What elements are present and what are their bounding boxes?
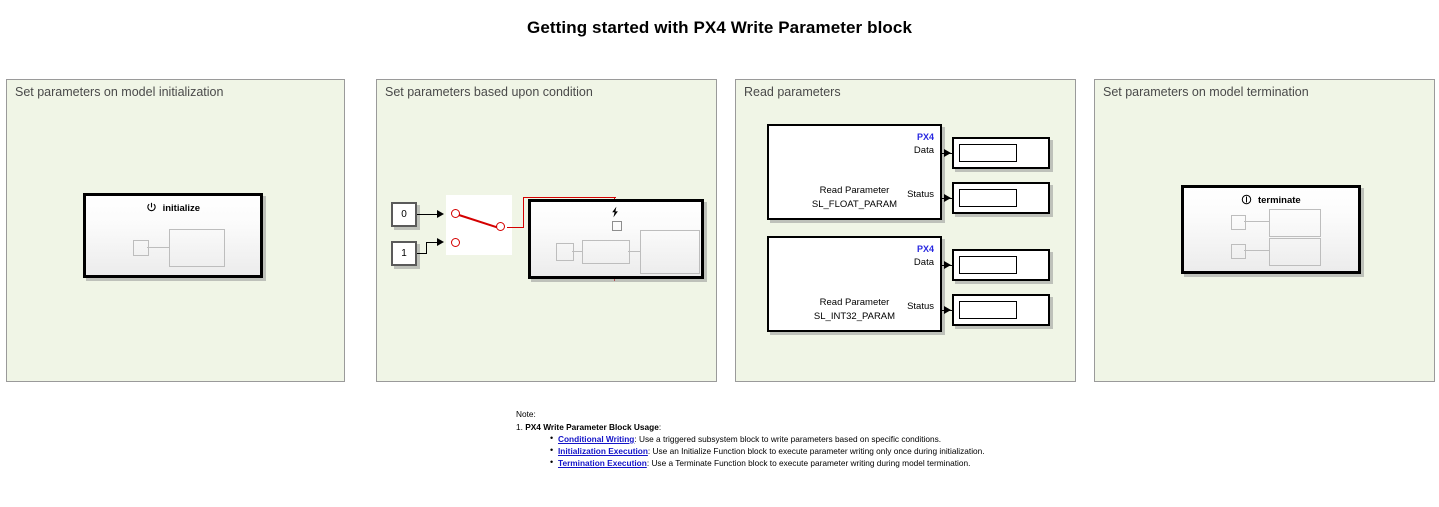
initialize-label-text: initialize: [163, 203, 200, 214]
constant-block-1[interactable]: 1: [391, 241, 417, 266]
arrow-const1: [437, 238, 444, 246]
ghost-connector-1: [572, 251, 582, 252]
note-item-title: PX4 Write Parameter Block Usage: [525, 422, 659, 432]
ghost-port-square: [556, 243, 574, 261]
switch-output-node: [496, 222, 505, 231]
wire-const0-to-switch: [417, 214, 438, 215]
wire-const1-rise: [426, 242, 427, 254]
ghost-port-square: [133, 240, 149, 256]
display-value-float-status: [959, 189, 1017, 207]
link-initialization-execution[interactable]: Initialization Execution: [558, 446, 648, 456]
panel-set-parameters-on-model-termination[interactable]: Set parameters on model termination term…: [1094, 79, 1435, 382]
ghost-port-square-top: [1231, 215, 1246, 230]
panel-set-parameters-on-model-initialization[interactable]: Set parameters on model initialization i…: [6, 79, 345, 382]
trigger-port-icon-wrap: [531, 206, 701, 221]
wire-switch-out: [507, 227, 524, 228]
terminate-block-label: terminate: [1184, 194, 1358, 208]
trigger-lightning-icon: [610, 206, 620, 221]
trigger-port-square: [612, 221, 622, 231]
display-block-int32-data[interactable]: [952, 249, 1050, 281]
bullet-text: : Use a Terminate Function block to exec…: [647, 458, 971, 468]
read-parameter-block-float[interactable]: PX4 Data Read Parameter Status SL_FLOAT_…: [767, 124, 942, 220]
arrow-int32-status: [944, 306, 951, 314]
note-bullet-list: Conditional Writing: Use a triggered sub…: [550, 434, 1076, 469]
note-item-number: 1.: [516, 422, 523, 432]
constant-block-0[interactable]: 0: [391, 202, 417, 227]
terminate-label-text: terminate: [1258, 195, 1301, 206]
ghost-port-square-bottom: [1231, 244, 1246, 259]
triggered-subsystem-block[interactable]: [528, 199, 704, 279]
arrow-const0: [437, 210, 444, 218]
bullet-text: : Use an Initialize Function block to ex…: [648, 446, 985, 456]
wire-trigger-rise: [523, 197, 524, 228]
panel-title: Set parameters based upon condition: [385, 85, 593, 99]
ghost-mid-rect: [582, 240, 630, 264]
display-value-int32-data: [959, 256, 1017, 274]
panel-read-parameters[interactable]: Read parameters PX4 Data Read Parameter …: [735, 79, 1076, 382]
display-block-float-status[interactable]: [952, 182, 1050, 214]
px4-vendor-label: PX4: [917, 244, 934, 254]
display-block-int32-status[interactable]: [952, 294, 1050, 326]
ghost-connector-bottom: [1244, 250, 1269, 251]
ghost-body-rect-top: [1269, 209, 1321, 237]
arrow-int32-data: [944, 261, 951, 269]
terminate-icon: [1241, 194, 1252, 208]
switch-input-node-1: [451, 238, 460, 247]
constant-0-value: 0: [401, 209, 407, 220]
panel-title: Set parameters on model initialization: [15, 85, 223, 99]
note-item-title-suffix: :: [659, 422, 661, 432]
switch-blade: [459, 214, 498, 228]
display-block-float-data[interactable]: [952, 137, 1050, 169]
ghost-connector: [147, 247, 169, 248]
constant-1-value: 1: [401, 248, 407, 259]
list-item: Initialization Execution: Use an Initial…: [550, 446, 1076, 457]
panel-title: Set parameters on model termination: [1103, 85, 1309, 99]
ghost-body-rect-bottom: [1269, 238, 1321, 266]
initialize-function-block[interactable]: initialize: [83, 193, 263, 278]
terminate-function-block[interactable]: terminate: [1181, 185, 1361, 274]
ghost-connector-top: [1244, 221, 1269, 222]
port-label-data: Data: [914, 145, 934, 156]
panel-title: Read parameters: [744, 85, 841, 99]
power-icon: [146, 202, 157, 216]
ghost-body-rect: [640, 230, 700, 274]
ghost-body-rect: [169, 229, 225, 267]
ghost-connector-2: [628, 251, 640, 252]
display-value-float-data: [959, 144, 1017, 162]
link-termination-execution[interactable]: Termination Execution: [558, 458, 647, 468]
port-label-data: Data: [914, 257, 934, 268]
manual-switch-block[interactable]: [446, 195, 512, 255]
list-item: Termination Execution: Use a Terminate F…: [550, 458, 1076, 469]
display-value-int32-status: [959, 301, 1017, 319]
note-item-1: 1. PX4 Write Parameter Block Usage:: [516, 422, 1076, 433]
note-heading: Note:: [516, 409, 1076, 420]
parameter-name-float: SL_FLOAT_PARAM: [769, 199, 940, 210]
page-title: Getting started with PX4 Write Parameter…: [0, 18, 1439, 38]
parameter-name-int32: SL_INT32_PARAM: [769, 311, 940, 322]
px4-vendor-label: PX4: [917, 132, 934, 142]
arrow-float-status: [944, 194, 951, 202]
initialize-block-label: initialize: [86, 202, 260, 216]
arrow-float-data: [944, 149, 951, 157]
bullet-text: : Use a triggered subsystem block to wri…: [634, 434, 941, 444]
read-parameter-block-int32[interactable]: PX4 Data Read Parameter Status SL_INT32_…: [767, 236, 942, 332]
link-conditional-writing[interactable]: Conditional Writing: [558, 434, 634, 444]
panel-set-parameters-based-upon-condition[interactable]: Set parameters based upon condition 0 1: [376, 79, 717, 382]
list-item: Conditional Writing: Use a triggered sub…: [550, 434, 1076, 445]
note-block: Note: 1. PX4 Write Parameter Block Usage…: [516, 409, 1076, 469]
